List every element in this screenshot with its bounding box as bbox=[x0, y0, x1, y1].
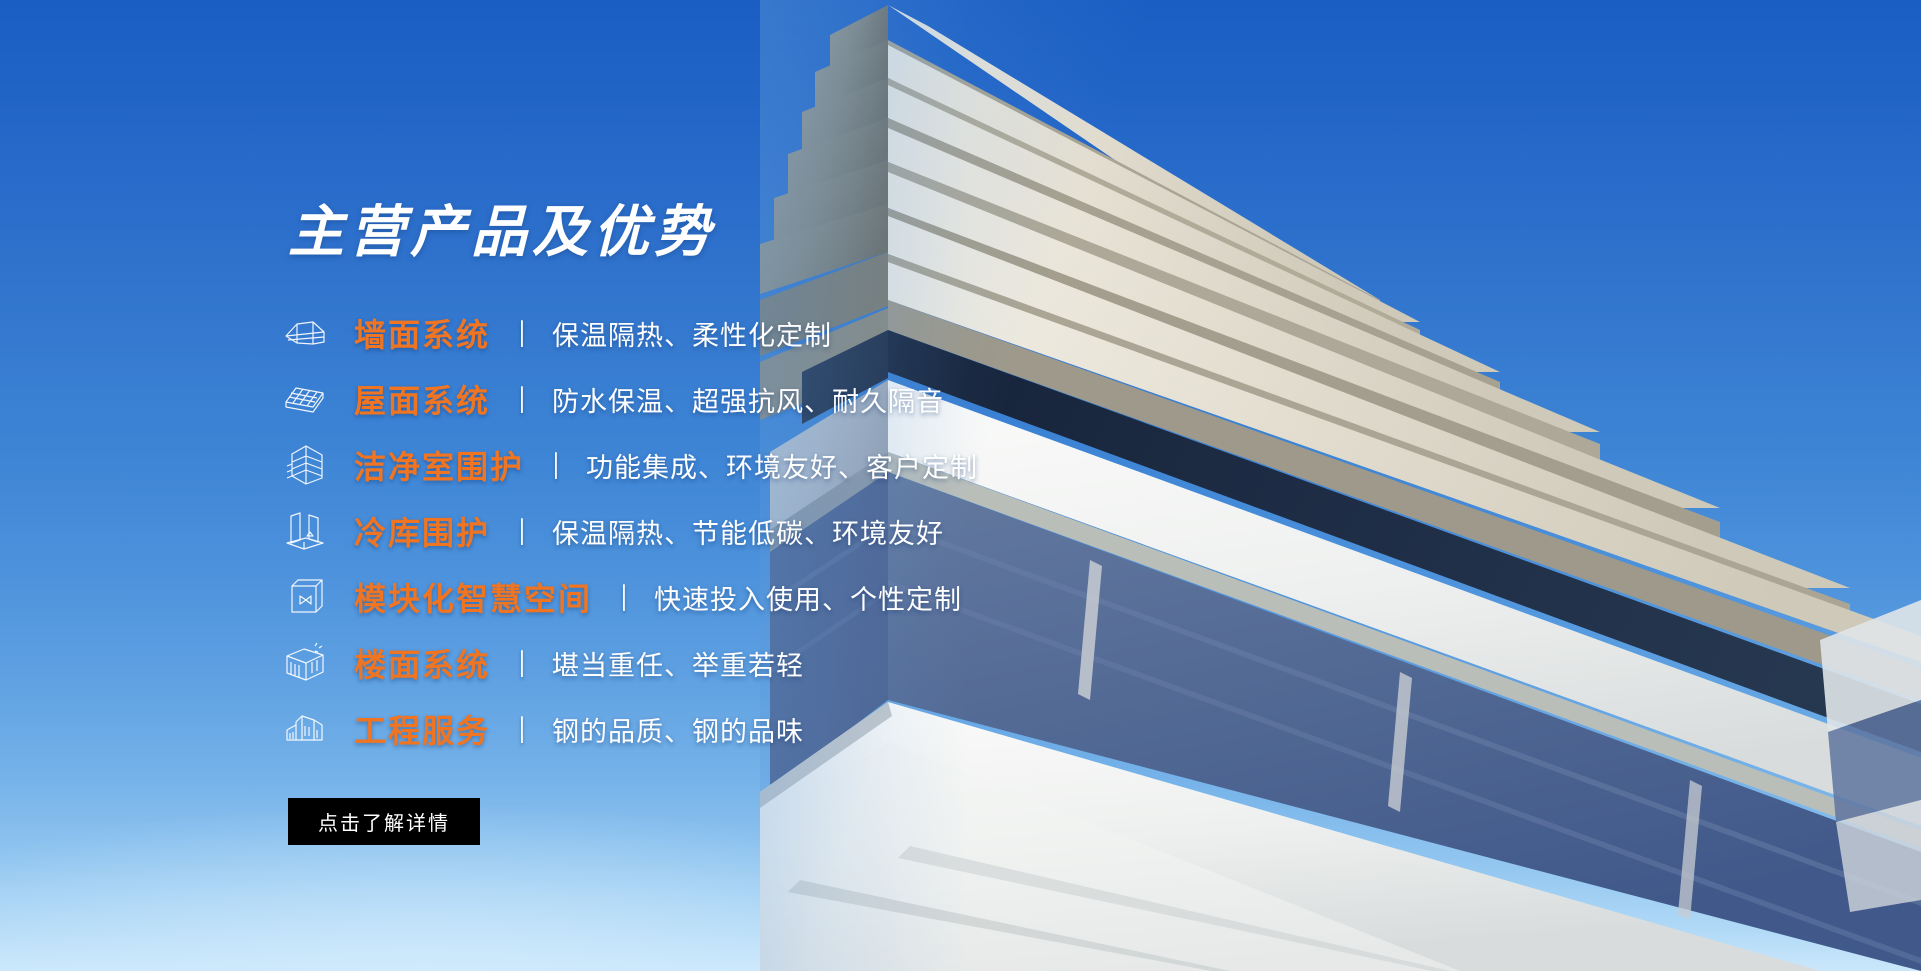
product-row[interactable]: 模块化智慧空间 丨 快速投入使用、个性定制 bbox=[282, 564, 1182, 630]
product-row[interactable]: 楼面系统 丨 堪当重任、举重若轻 bbox=[282, 630, 1182, 696]
product-desc: 防水保温、超强抗风、耐久隔音 bbox=[552, 380, 944, 419]
product-row[interactable]: 洁净室围护 丨 功能集成、环境友好、客户定制 bbox=[282, 432, 1182, 498]
coldstore-icon bbox=[282, 508, 328, 554]
product-name: 楼面系统 bbox=[354, 640, 490, 686]
row-separator: 丨 bbox=[548, 445, 563, 485]
product-name: 模块化智慧空间 bbox=[354, 574, 592, 620]
engineering-service-icon bbox=[282, 706, 328, 752]
product-desc: 快速投入使用、个性定制 bbox=[654, 578, 962, 617]
product-row[interactable]: 墙面系统 丨 保温隔热、柔性化定制 bbox=[282, 300, 1182, 366]
product-desc: 堪当重任、举重若轻 bbox=[552, 644, 804, 683]
row-separator: 丨 bbox=[514, 313, 529, 353]
product-desc: 钢的品质、钢的品味 bbox=[552, 710, 804, 749]
row-separator: 丨 bbox=[514, 709, 529, 749]
product-row[interactable]: 工程服务 丨 钢的品质、钢的品味 bbox=[282, 696, 1182, 762]
product-name: 冷库围护 bbox=[354, 508, 490, 554]
roof-panel-icon bbox=[282, 376, 328, 422]
product-name: 洁净室围护 bbox=[354, 442, 524, 488]
product-row[interactable]: 冷库围护 丨 保温隔热、节能低碳、环境友好 bbox=[282, 498, 1182, 564]
product-name: 工程服务 bbox=[354, 706, 490, 752]
product-desc: 保温隔热、节能低碳、环境友好 bbox=[552, 512, 944, 551]
wall-frame-icon bbox=[282, 310, 328, 356]
row-separator: 丨 bbox=[514, 643, 529, 683]
modular-cube-icon bbox=[282, 574, 328, 620]
row-separator: 丨 bbox=[616, 577, 631, 617]
product-row[interactable]: 屋面系统 丨 防水保温、超强抗风、耐久隔音 bbox=[282, 366, 1182, 432]
row-separator: 丨 bbox=[514, 511, 529, 551]
hero-banner: 主营产品及优势 墙面系统 丨 保温隔热、柔性化定制 bbox=[0, 0, 1921, 971]
page-title: 主营产品及优势 bbox=[288, 204, 715, 260]
product-name: 墙面系统 bbox=[354, 310, 490, 356]
product-name: 屋面系统 bbox=[354, 376, 490, 422]
learn-more-button[interactable]: 点击了解详情 bbox=[288, 798, 480, 845]
product-list: 墙面系统 丨 保温隔热、柔性化定制 屋面系统 丨 防水保温、超强抗风、耐久隔音 bbox=[282, 300, 1182, 762]
floor-deck-icon bbox=[282, 640, 328, 686]
row-separator: 丨 bbox=[514, 379, 529, 419]
product-desc: 保温隔热、柔性化定制 bbox=[552, 314, 832, 353]
cleanroom-building-icon bbox=[282, 442, 328, 488]
product-desc: 功能集成、环境友好、客户定制 bbox=[586, 446, 978, 485]
banner-content: 主营产品及优势 墙面系统 丨 保温隔热、柔性化定制 bbox=[0, 0, 980, 971]
